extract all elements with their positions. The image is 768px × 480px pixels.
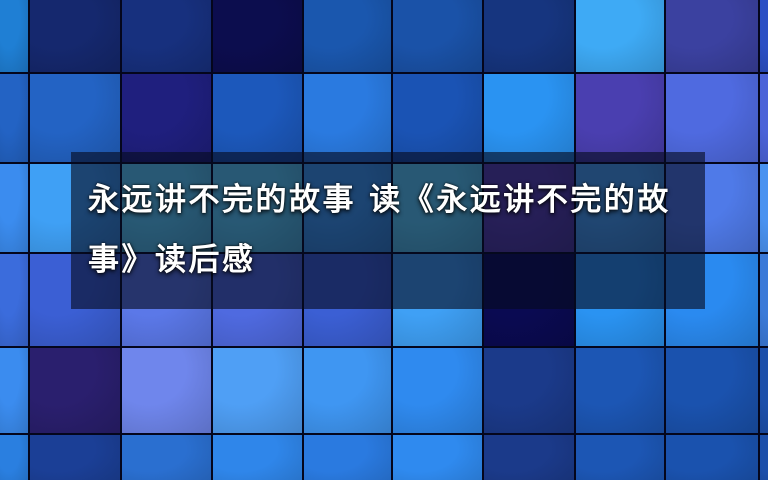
mosaic-tile	[760, 164, 768, 252]
mosaic-tile	[666, 0, 758, 72]
caption-title: 永远讲不完的故事 读《永远讲不完的故事》读后感	[88, 170, 698, 290]
mosaic-tile	[576, 348, 664, 433]
mosaic-tile	[122, 435, 211, 480]
mosaic-tile	[122, 348, 211, 433]
mosaic-tile	[30, 0, 120, 72]
mosaic-tile	[304, 348, 391, 433]
mosaic-tile	[30, 74, 120, 162]
mosaic-tile	[484, 74, 574, 162]
mosaic-tile	[393, 0, 482, 72]
mosaic-tile	[122, 74, 211, 162]
mosaic-tile	[576, 74, 664, 162]
mosaic-tile	[760, 435, 768, 480]
title-card: 永远讲不完的故事 读《永远讲不完的故事》读后感	[0, 0, 768, 480]
mosaic-tile	[0, 74, 28, 162]
mosaic-tile	[393, 348, 482, 433]
mosaic-tile	[393, 435, 482, 480]
mosaic-tile	[484, 348, 574, 433]
mosaic-tile	[760, 254, 768, 346]
mosaic-tile	[760, 0, 768, 72]
mosaic-tile	[760, 348, 768, 433]
mosaic-tile	[30, 435, 120, 480]
mosaic-tile	[304, 74, 391, 162]
mosaic-tile	[0, 348, 28, 433]
mosaic-tile	[666, 74, 758, 162]
mosaic-tile	[213, 74, 302, 162]
mosaic-tile	[213, 435, 302, 480]
mosaic-tile	[576, 0, 664, 72]
mosaic-tile	[30, 348, 120, 433]
mosaic-tile	[304, 0, 391, 72]
mosaic-tile	[0, 254, 28, 346]
mosaic-tile	[304, 435, 391, 480]
mosaic-tile	[122, 0, 211, 72]
mosaic-tile	[484, 0, 574, 72]
mosaic-tile	[666, 435, 758, 480]
mosaic-tile	[484, 435, 574, 480]
mosaic-tile	[760, 74, 768, 162]
mosaic-tile	[213, 348, 302, 433]
mosaic-tile	[0, 0, 28, 72]
mosaic-tile	[576, 435, 664, 480]
mosaic-tile	[666, 348, 758, 433]
mosaic-tile	[0, 164, 28, 252]
mosaic-tile	[213, 0, 302, 72]
mosaic-tile	[393, 74, 482, 162]
mosaic-tile	[0, 435, 28, 480]
